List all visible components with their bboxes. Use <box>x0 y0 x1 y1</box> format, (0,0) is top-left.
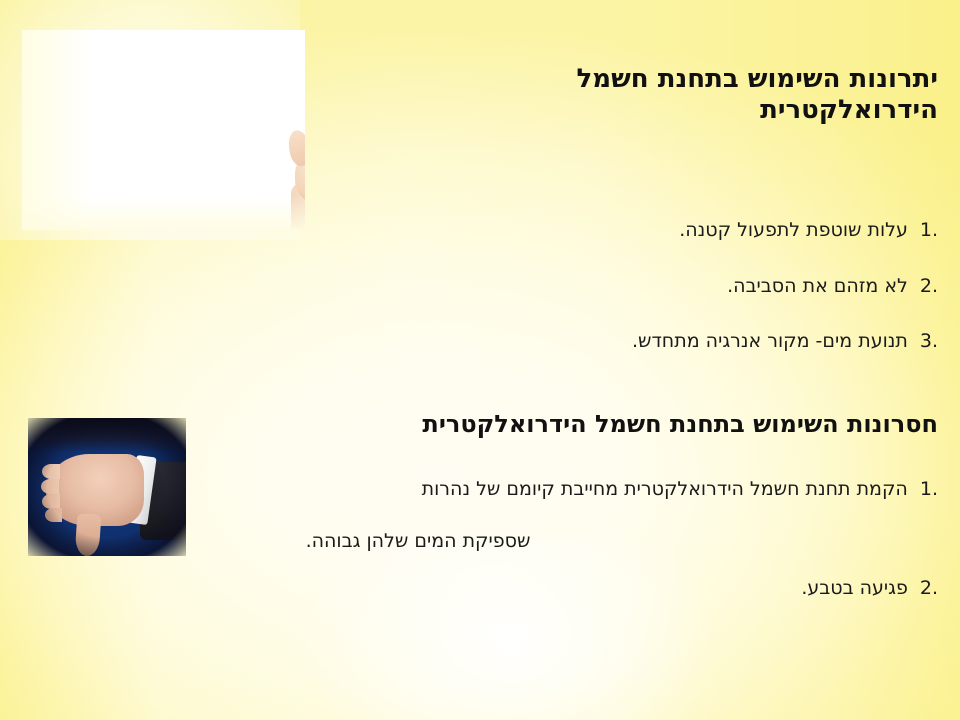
advantages-list: 1.עלות שוטפת לתפעול קטנה. 2.לא מזהם את ה… <box>38 218 938 385</box>
disadvantages-heading: חסרונות השימוש בתחנת חשמל הידרואלקטרית <box>248 410 938 438</box>
thumbs-down-photo <box>28 418 186 556</box>
list-item-number: 2. <box>920 274 938 300</box>
list-item: 2.פגיעה בטבע. <box>18 576 938 602</box>
list-item-number: 1. <box>920 476 938 502</box>
list-item-number: 2. <box>920 576 938 602</box>
advantages-heading: יתרונות השימוש בתחנת חשמל הידרואלקטרית <box>438 64 938 125</box>
list-item: 3.תנועת מים- מקור אנרגיה מתחדש. <box>38 329 938 355</box>
list-item: 2.לא מזהם את הסביבה. <box>38 274 938 300</box>
slide-canvas: יתרונות השימוש בתחנת חשמל הידרואלקטרית 1… <box>0 0 960 720</box>
list-item-text: פגיעה בטבע. <box>801 576 908 602</box>
list-item-text: עלות שוטפת לתפעול קטנה. <box>679 218 908 244</box>
list-item-text: תנועת מים- מקור אנרגיה מתחדש. <box>632 329 908 355</box>
list-item-text: הקמת תחנת חשמל הידרואלקטרית מחייבת קיומם… <box>422 478 908 500</box>
list-item-number: 1. <box>920 218 938 244</box>
thumbs-up-photo <box>22 30 305 230</box>
list-item-text: לא מזהם את הסביבה. <box>727 274 908 300</box>
photo-vignette <box>28 418 186 556</box>
photo-fade-bottom <box>22 196 305 230</box>
list-item-number: 3. <box>920 329 938 355</box>
